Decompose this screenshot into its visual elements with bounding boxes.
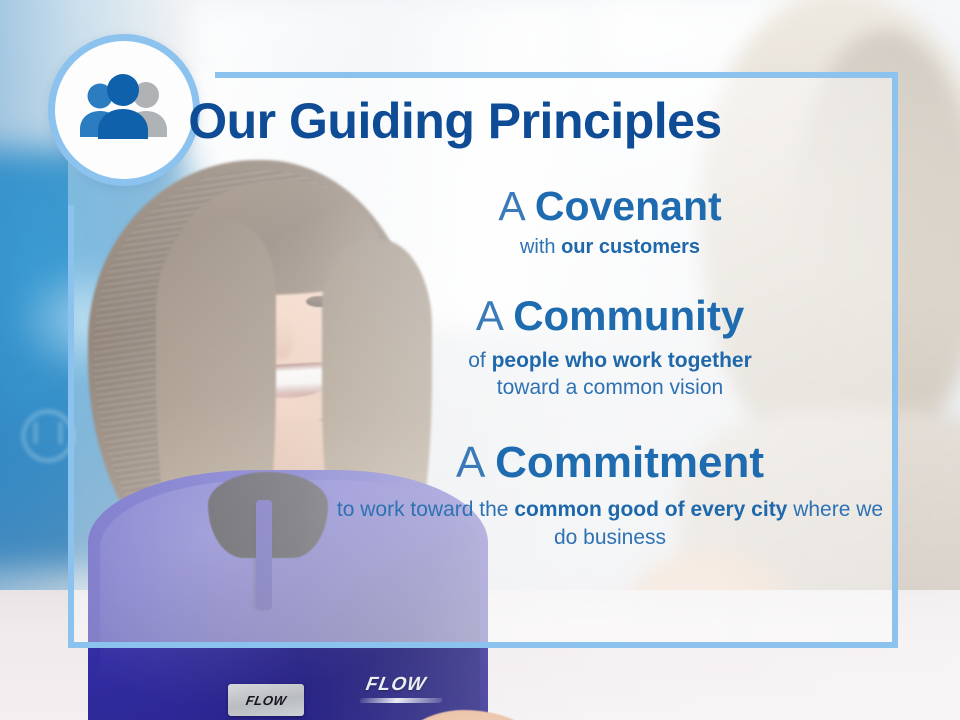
principle-commitment-keyword: Commitment: [495, 438, 764, 487]
shirt-logo-swoosh: [359, 698, 443, 703]
shirt-brand-logo: FLOW: [364, 674, 428, 696]
principle-community-lead: A: [476, 292, 502, 339]
principle-covenant: A Covenant with our customers: [330, 185, 890, 260]
principle-commitment-lead: A: [456, 438, 483, 487]
employee-shirt-placket: [256, 500, 272, 610]
guiding-principles-graphic: FLOW FLOW Our Guiding: [0, 0, 960, 720]
principles-list: A Covenant with our customers A Communit…: [330, 185, 890, 570]
principle-community: A Community of people who work togethert…: [330, 294, 890, 402]
name-badge-brand-text: FLOW: [245, 693, 288, 708]
principle-covenant-lead: A: [498, 183, 523, 229]
principle-commitment-title: A Commitment: [330, 440, 890, 486]
principle-covenant-keyword: Covenant: [535, 183, 722, 229]
principle-commitment: A Commitment to work toward the common g…: [330, 440, 890, 552]
page-title: Our Guiding Principles: [0, 96, 960, 146]
principle-community-keyword: Community: [513, 292, 744, 339]
principle-covenant-subtitle: with our customers: [330, 234, 890, 260]
employee-name-badge: FLOW: [228, 684, 304, 716]
principle-community-subtitle: of people who work togethertoward a comm…: [330, 347, 890, 402]
principle-covenant-title: A Covenant: [330, 185, 890, 228]
principle-commitment-subtitle: to work toward the common good of every …: [330, 496, 890, 551]
principle-community-title: A Community: [330, 294, 890, 338]
